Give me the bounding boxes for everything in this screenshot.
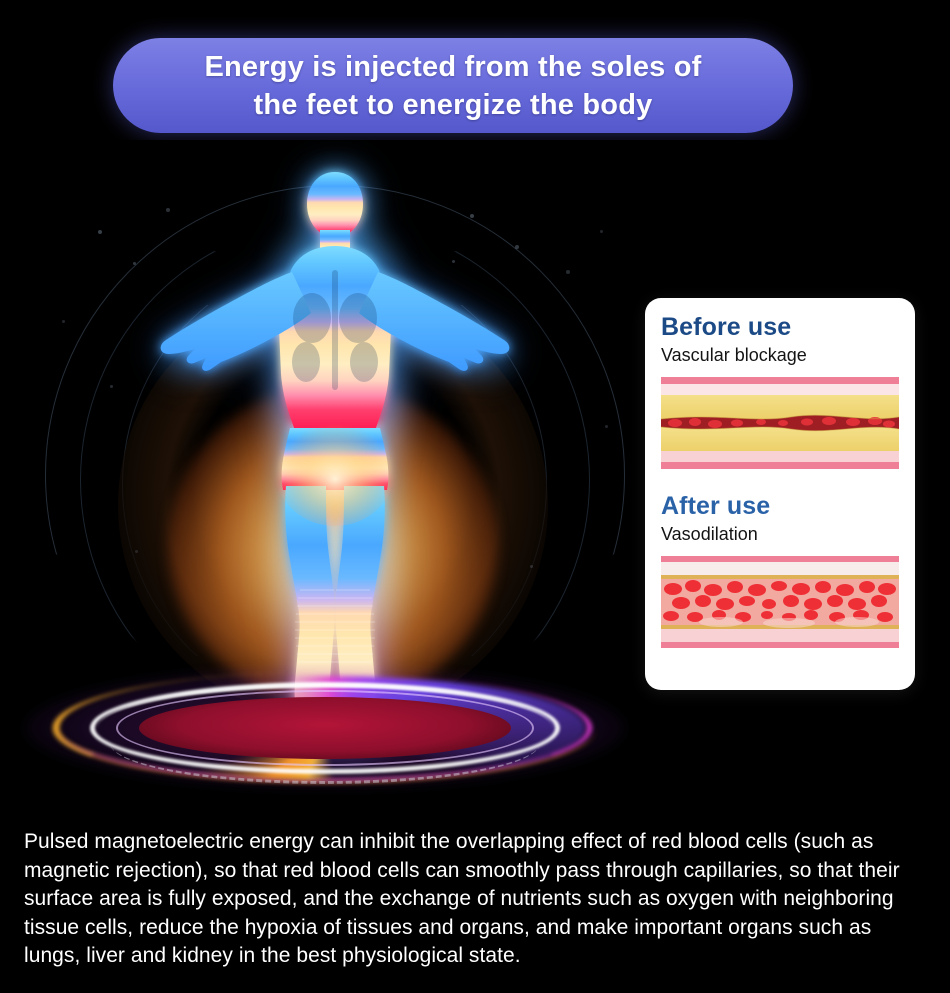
particle-dot	[530, 565, 533, 568]
particle-dot	[600, 230, 603, 233]
particle-dot	[566, 270, 570, 274]
particle-dot	[135, 550, 138, 553]
particle-dot	[62, 320, 65, 323]
description-paragraph: Pulsed magnetoelectric energy can inhibi…	[24, 828, 930, 971]
before-use-subtitle: Vascular blockage	[661, 343, 899, 367]
before-after-comparison-card: Before use Vascular blockage	[645, 298, 915, 690]
platform-tick-marks	[110, 702, 540, 784]
particle-dot	[98, 230, 102, 234]
before-use-heading: Before use	[661, 312, 899, 342]
banner-title: Energy is injected from the soles of the…	[204, 48, 701, 124]
particle-dot	[605, 425, 608, 428]
after-use-section: After use Vasodilation	[661, 491, 899, 648]
glowing-human-body-figure	[140, 150, 530, 750]
title-banner: Energy is injected from the soles of the…	[113, 38, 793, 133]
particle-dot	[110, 385, 113, 388]
before-use-section: Before use Vascular blockage	[661, 312, 899, 469]
particle-dot	[133, 262, 136, 265]
blocked-artery-cross-section	[661, 377, 899, 469]
open-artery-cross-section	[661, 556, 899, 648]
after-use-heading: After use	[661, 491, 899, 521]
after-use-subtitle: Vasodilation	[661, 522, 899, 546]
glowing-energy-platform	[25, 665, 625, 790]
